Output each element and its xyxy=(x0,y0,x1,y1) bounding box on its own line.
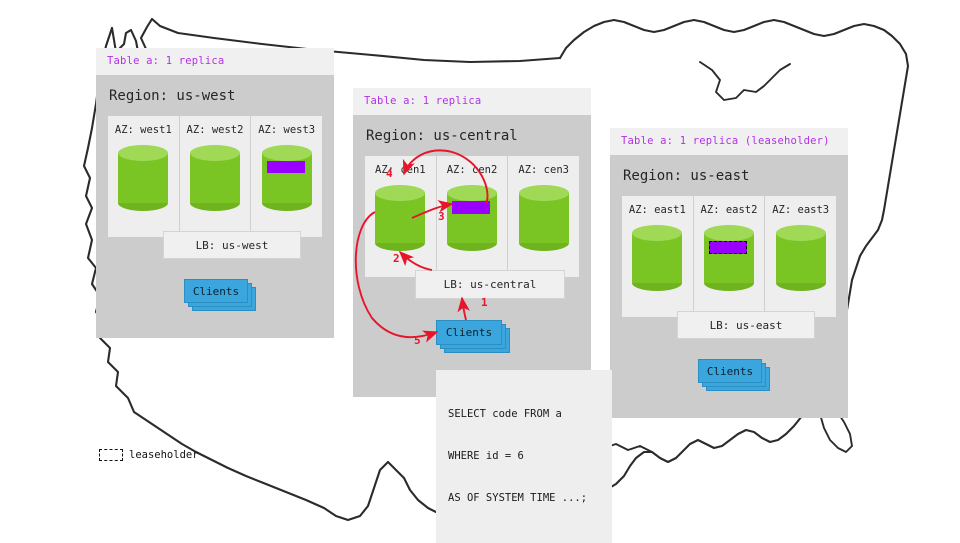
cylinder-top xyxy=(375,185,425,201)
replica-range-cen2[interactable] xyxy=(452,201,490,214)
az-label-west3: AZ: west3 xyxy=(258,124,315,136)
node-cylinder-east2[interactable] xyxy=(704,225,754,291)
legend-leaseholder: leaseholder xyxy=(99,449,199,461)
node-cylinder-west2[interactable] xyxy=(190,145,240,211)
az-label-cen3: AZ: cen3 xyxy=(518,164,569,176)
clients-label-us-central[interactable]: Clients xyxy=(436,320,502,345)
cylinder-top xyxy=(704,225,754,241)
az-cen3[interactable]: AZ: cen3 xyxy=(508,156,579,277)
node-cylinder-east1[interactable] xyxy=(632,225,682,291)
az-label-east2: AZ: east2 xyxy=(701,204,758,216)
az-east1[interactable]: AZ: east1 xyxy=(622,196,694,317)
az-west3[interactable]: AZ: west3 xyxy=(251,116,322,237)
node-cylinder-east3[interactable] xyxy=(776,225,826,291)
step-number-1: 1 xyxy=(481,296,488,309)
region-panel-us-central: Table a: 1 replica Region: us-central AZ… xyxy=(353,88,591,397)
region-panel-us-east: Table a: 1 replica (leaseholder) Region:… xyxy=(610,128,848,418)
az-label-east1: AZ: east1 xyxy=(629,204,686,216)
sql-query-box: SELECT code FROM a WHERE id = 6 AS OF SY… xyxy=(436,370,612,543)
load-balancer-us-central[interactable]: LB: us-central xyxy=(415,270,565,299)
az-west2[interactable]: AZ: west2 xyxy=(180,116,252,237)
az-label-cen1: AZ: cen1 xyxy=(375,164,426,176)
node-cylinder-cen3[interactable] xyxy=(519,185,569,251)
region-title-us-central: Region: us-central xyxy=(353,115,591,156)
node-cylinder-cen2[interactable] xyxy=(447,185,497,251)
cylinder-top xyxy=(776,225,826,241)
dashed-rectangle-icon xyxy=(99,449,123,461)
node-cylinder-west1[interactable] xyxy=(118,145,168,211)
region-panel-us-west: Table a: 1 replica Region: us-west AZ: w… xyxy=(96,48,334,338)
az-west1[interactable]: AZ: west1 xyxy=(108,116,180,237)
cylinder-top xyxy=(519,185,569,201)
load-balancer-us-west[interactable]: LB: us-west xyxy=(163,231,301,259)
az-east3[interactable]: AZ: east3 xyxy=(765,196,836,317)
node-cylinder-west3[interactable] xyxy=(262,145,312,211)
az-label-east3: AZ: east3 xyxy=(772,204,829,216)
load-balancer-us-east[interactable]: LB: us-east xyxy=(677,311,815,339)
step-number-4: 4 xyxy=(386,167,393,180)
sql-line-2: WHERE id = 6 xyxy=(448,449,600,463)
az-cen1[interactable]: AZ: cen1 xyxy=(365,156,437,277)
legend-label: leaseholder xyxy=(129,449,199,461)
cylinder-top xyxy=(447,185,497,201)
clients-us-east[interactable]: Clients xyxy=(698,359,768,390)
az-row-us-west: AZ: west1 AZ: west2 AZ xyxy=(108,116,322,237)
az-label-west2: AZ: west2 xyxy=(187,124,244,136)
step-number-5: 5 xyxy=(414,334,421,347)
step-number-2: 2 xyxy=(393,252,400,265)
az-row-us-east: AZ: east1 AZ: east2 xyxy=(622,196,836,317)
diagram-canvas: Table a: 1 replica Region: us-west AZ: w… xyxy=(0,0,960,540)
clients-label-us-east[interactable]: Clients xyxy=(698,359,762,383)
replica-range-west3[interactable] xyxy=(267,161,305,173)
clients-us-central[interactable]: Clients xyxy=(436,320,508,352)
clients-us-west[interactable]: Clients xyxy=(184,279,250,309)
sql-line-3: AS OF SYSTEM TIME ...; xyxy=(448,491,600,505)
region-header-us-west: Table a: 1 replica xyxy=(96,48,334,75)
region-title-us-west: Region: us-west xyxy=(96,75,334,116)
region-header-us-east: Table a: 1 replica (leaseholder) xyxy=(610,128,848,155)
replica-range-east2-leaseholder[interactable] xyxy=(709,241,747,254)
region-title-us-east: Region: us-east xyxy=(610,155,848,196)
step-number-3: 3 xyxy=(438,210,445,223)
az-cen2[interactable]: AZ: cen2 xyxy=(437,156,509,277)
clients-label-us-west[interactable]: Clients xyxy=(184,279,248,303)
region-header-us-central: Table a: 1 replica xyxy=(353,88,591,115)
region-body-us-central: Region: us-central AZ: cen1 AZ: cen2 xyxy=(353,115,591,397)
node-cylinder-cen1[interactable] xyxy=(375,185,425,251)
az-label-cen2: AZ: cen2 xyxy=(447,164,498,176)
az-east2[interactable]: AZ: east2 xyxy=(694,196,766,317)
cylinder-top xyxy=(118,145,168,161)
cylinder-top xyxy=(190,145,240,161)
sql-line-1: SELECT code FROM a xyxy=(448,407,600,421)
az-label-west1: AZ: west1 xyxy=(115,124,172,136)
cylinder-top xyxy=(632,225,682,241)
cylinder-top xyxy=(262,145,312,161)
